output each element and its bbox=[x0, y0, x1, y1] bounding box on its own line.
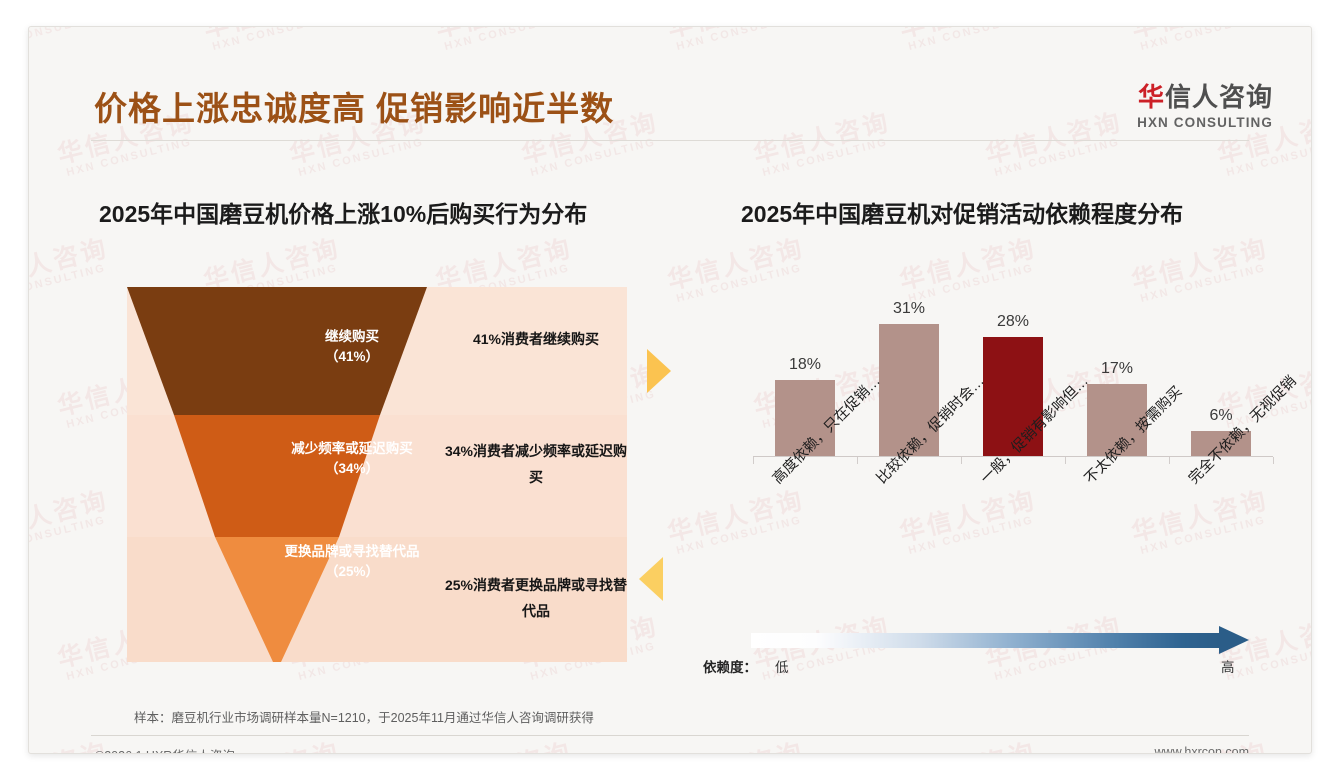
funnel-chart: 继续购买（41%） 减少频率或延迟购买（34%） 更换品牌或寻找替代品（25%）… bbox=[127, 287, 627, 662]
dependence-gradient-legend: 依赖度： 低 高 bbox=[751, 627, 1261, 678]
logo-accent-char: 华 bbox=[1138, 82, 1165, 112]
play-triangle-right-icon bbox=[647, 349, 671, 393]
dependence-bar-chart: 18%31%28%17%6% 高度依赖，只在促销…比较依赖，促销时会…一般，促销… bbox=[729, 285, 1289, 615]
slide-root: 华信人咨询HXN CONSULTING华信人咨询HXN CONSULTING华信… bbox=[0, 0, 1340, 780]
legend-high-label: 高 bbox=[1221, 656, 1235, 676]
bar-column: 31% bbox=[857, 285, 961, 457]
watermark: 华信人咨询HXN CONSULTING bbox=[29, 235, 114, 306]
axis-tick bbox=[753, 457, 754, 464]
bar-column: 6% bbox=[1169, 285, 1273, 457]
watermark: 华信人咨询HXN CONSULTING bbox=[665, 27, 810, 54]
gradient-bar-row bbox=[751, 627, 1261, 653]
watermark: 华信人咨询HXN CONSULTING bbox=[983, 109, 1128, 180]
funnel-note-0: 41%消费者继续购买 bbox=[445, 327, 627, 353]
watermark: 华信人咨询HXN CONSULTING bbox=[897, 739, 1042, 753]
logo-chinese-text: 华信人咨询 bbox=[1137, 83, 1273, 112]
funnel-note-1: 34%消费者减少频率或延迟购买 bbox=[443, 439, 629, 491]
page-title: 价格上涨忠诚度高 促销影响近半数 bbox=[94, 82, 614, 130]
watermark: 华信人咨询HXN CONSULTING bbox=[433, 739, 578, 753]
bar-value-label: 28% bbox=[961, 313, 1065, 331]
gradient-bar bbox=[751, 633, 1219, 648]
logo-english-text: HXN CONSULTING bbox=[1137, 115, 1273, 130]
watermark: 华信人咨询HXN CONSULTING bbox=[29, 27, 114, 54]
watermark: 华信人咨询HXN CONSULTING bbox=[201, 27, 346, 54]
watermark: 华信人咨询HXN CONSULTING bbox=[665, 739, 810, 753]
left-section-heading: 2025年中国磨豆机价格上涨10%后购买行为分布 bbox=[99, 195, 587, 229]
axis-tick bbox=[1065, 457, 1066, 464]
watermark: 华信人咨询HXN CONSULTING bbox=[1129, 27, 1274, 54]
funnel-segment-0 bbox=[127, 287, 427, 415]
axis-tick bbox=[857, 457, 858, 464]
footer-copyright: ©2026.1 HXR华信人咨询 bbox=[95, 745, 235, 754]
watermark: 华信人咨询HXN CONSULTING bbox=[751, 109, 896, 180]
footer-divider bbox=[91, 735, 1249, 736]
bar-column: 18% bbox=[753, 285, 857, 457]
gradient-arrow-icon bbox=[1219, 626, 1249, 654]
logo-rest-chars: 信人咨询 bbox=[1165, 82, 1273, 112]
bar-value-label: 18% bbox=[753, 356, 857, 374]
slide-card: 华信人咨询HXN CONSULTING华信人咨询HXN CONSULTING华信… bbox=[28, 26, 1312, 754]
bar-value-label: 31% bbox=[857, 300, 961, 318]
header-divider bbox=[91, 140, 1249, 141]
axis-tick bbox=[1273, 457, 1274, 464]
watermark: 华信人咨询HXN CONSULTING bbox=[433, 27, 578, 54]
footer-website: www.hxrcon.com bbox=[1155, 745, 1249, 754]
legend-low-label: 低 bbox=[775, 656, 789, 676]
funnel-note-2: 25%消费者更换品牌或寻找替代品 bbox=[443, 573, 629, 625]
axis-tick bbox=[961, 457, 962, 464]
legend-text-row: 依赖度： 低 高 bbox=[751, 656, 1261, 678]
sample-footnote: 样本：磨豆机行业市场调研样本量N=1210，于2025年11月通过华信人咨询调研… bbox=[134, 707, 594, 726]
watermark: 华信人咨询HXN CONSULTING bbox=[29, 487, 114, 558]
play-triangle-left-icon bbox=[639, 557, 663, 601]
watermark: 华信人咨询HXN CONSULTING bbox=[897, 27, 1042, 54]
axis-tick bbox=[1169, 457, 1170, 464]
right-section-heading: 2025年中国磨豆机对促销活动依赖程度分布 bbox=[741, 195, 1183, 229]
bar-column: 28% bbox=[961, 285, 1065, 457]
company-logo: 华信人咨询 HXN CONSULTING bbox=[1137, 83, 1273, 130]
legend-title: 依赖度： bbox=[703, 656, 757, 676]
bar-column: 17% bbox=[1065, 285, 1169, 457]
